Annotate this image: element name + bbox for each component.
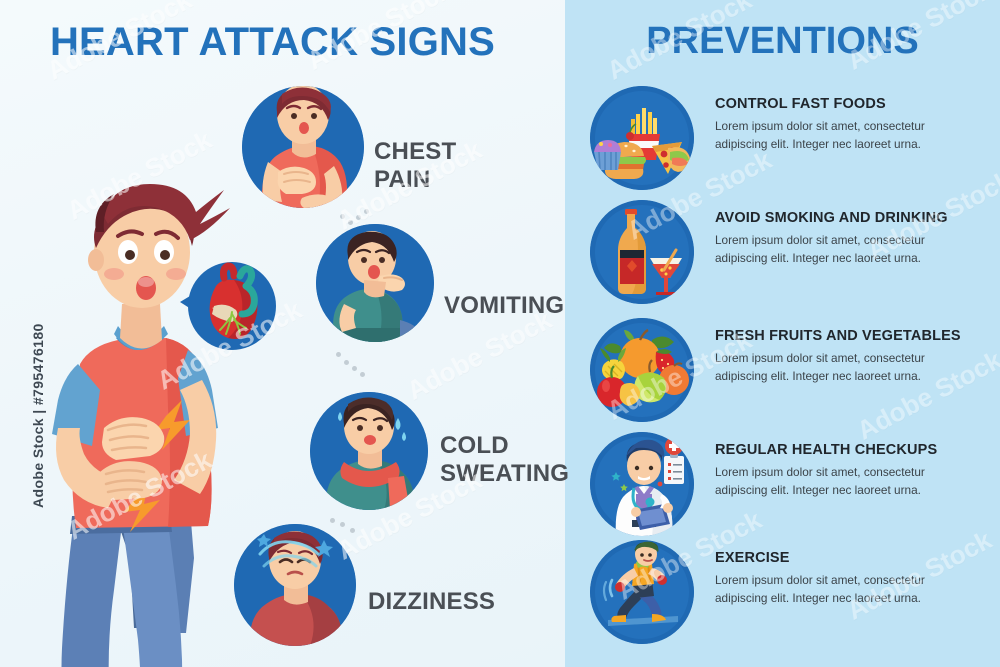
prevention-text-3: FRESH FRUITS AND VEGETABLES Lorem ipsum … xyxy=(715,328,1000,386)
symptom-label-line1: VOMITING xyxy=(444,292,564,320)
symptom-label-chest-pain: CHEST PAIN xyxy=(374,138,456,194)
symptom-label-line2: PAIN xyxy=(374,166,456,194)
page-title-left: HEART ATTACK SIGNS xyxy=(0,20,545,65)
fruits-vegetables-icon xyxy=(590,318,694,422)
infographic-canvas: HEART ATTACK SIGNS PREVENTIONS xyxy=(0,0,1000,667)
prevention-icon-circle-2[interactable] xyxy=(590,200,694,304)
symptom-label-line1: DIZZINESS xyxy=(368,588,495,616)
man-chest-pain-icon xyxy=(242,86,364,208)
prevention-title: REGULAR HEALTH CHECKUPS xyxy=(715,442,1000,458)
prevention-title: EXERCISE xyxy=(715,550,1000,566)
prevention-body: Lorem ipsum dolor sit amet, consectetur … xyxy=(715,231,930,268)
page-title-right: PREVENTIONS xyxy=(565,20,1000,63)
symptom-label-line1: CHEST xyxy=(374,138,456,166)
prevention-icon-circle-4[interactable] xyxy=(590,432,694,536)
symptom-circle-cold-sweating[interactable] xyxy=(310,392,428,510)
alcohol-bottle-icon xyxy=(590,200,694,304)
symptom-circle-chest-pain[interactable] xyxy=(242,86,364,208)
symptom-label-line2: SWEATING xyxy=(440,460,569,488)
symptom-label-dizziness: DIZZINESS xyxy=(368,588,495,616)
symptom-label-cold-sweating: COLD SWEATING xyxy=(440,432,569,488)
man-cold-sweating-icon xyxy=(310,392,428,510)
man-dizziness-icon xyxy=(234,524,356,646)
prevention-icon-circle-3[interactable] xyxy=(590,318,694,422)
man-vomiting-icon xyxy=(316,224,434,342)
prevention-icon-circle-1[interactable] xyxy=(590,86,694,190)
anatomical-heart-callout xyxy=(178,256,278,356)
prevention-title: FRESH FRUITS AND VEGETABLES xyxy=(715,328,1000,344)
prevention-icon-circle-5[interactable] xyxy=(590,540,694,644)
stock-id-watermark: Adobe Stock | #795476180 xyxy=(30,308,46,508)
symptom-label-line1: COLD xyxy=(440,432,569,460)
prevention-title: CONTROL FAST FOODS xyxy=(715,96,1000,112)
prevention-text-2: AVOID SMOKING AND DRINKING Lorem ipsum d… xyxy=(715,210,1000,268)
prevention-body: Lorem ipsum dolor sit amet, consectetur … xyxy=(715,463,930,500)
prevention-body: Lorem ipsum dolor sit amet, consectetur … xyxy=(715,349,930,386)
prevention-text-5: EXERCISE Lorem ipsum dolor sit amet, con… xyxy=(715,550,1000,608)
symptom-circle-dizziness[interactable] xyxy=(234,524,356,646)
symptom-circle-vomiting[interactable] xyxy=(316,224,434,342)
doctor-checkup-icon xyxy=(590,432,694,536)
prevention-body: Lorem ipsum dolor sit amet, consectetur … xyxy=(715,571,930,608)
prevention-text-1: CONTROL FAST FOODS Lorem ipsum dolor sit… xyxy=(715,96,1000,154)
fast-food-icon xyxy=(590,86,694,190)
prevention-title: AVOID SMOKING AND DRINKING xyxy=(715,210,1000,226)
prevention-body: Lorem ipsum dolor sit amet, consectetur … xyxy=(715,117,930,154)
prevention-text-4: REGULAR HEALTH CHECKUPS Lorem ipsum dolo… xyxy=(715,442,1000,500)
running-man-icon xyxy=(590,540,694,644)
symptom-label-vomiting: VOMITING xyxy=(444,292,564,320)
